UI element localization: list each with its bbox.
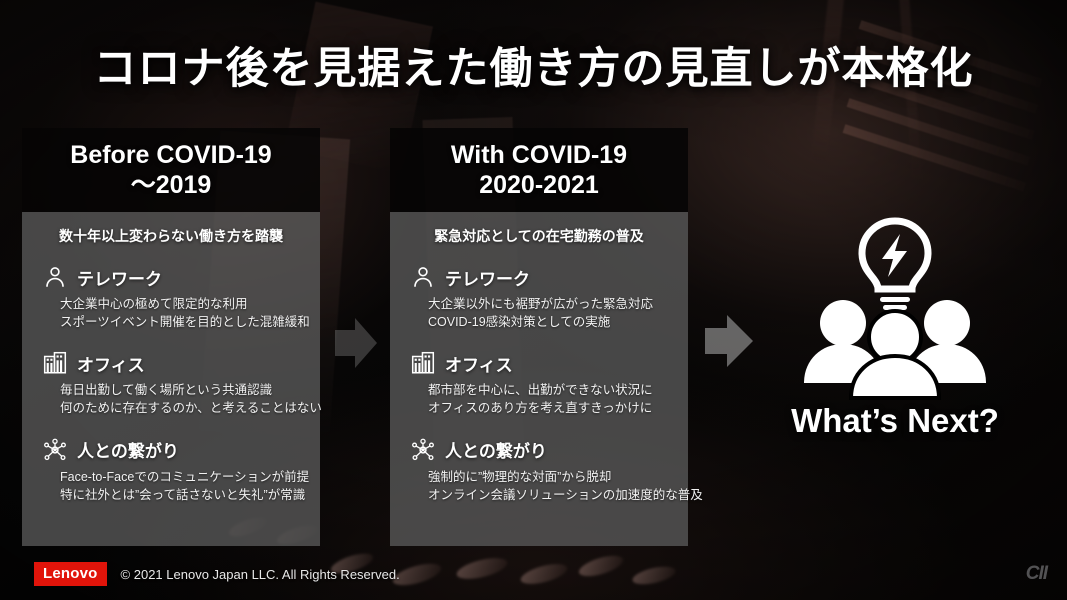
section-line: 大企業以外にも裾野が広がった緊急対応 — [406, 295, 672, 313]
section-connection: 人との繋がり Face-to-Faceでのコミュニケーションが前提 特に社外とは… — [38, 437, 304, 504]
transition-arrow-middle — [333, 316, 379, 375]
panel-body: 数十年以上変わらない働き方を踏襲 テレワーク 大企業中心の極めて限定的な利用 ス… — [22, 212, 320, 546]
section-office: オフィス 毎日出勤して働く場所という共通認識 何のために存在するのか、と考えるこ… — [38, 350, 304, 417]
section-line: 都市部を中心に、出勤ができない状況に — [406, 381, 672, 399]
panel-header: Before COVID-19 〜2019 — [22, 128, 320, 212]
section-header: 人との繋がり — [406, 437, 672, 463]
panel-with-covid: With COVID-19 2020-2021 緊急対応としての在宅勤務の普及 … — [390, 128, 688, 546]
section-line: 強制的に”物理的な対面”から脱却 — [406, 468, 672, 486]
people-icon-wrapper — [770, 212, 1020, 402]
panel-header: With COVID-19 2020-2021 — [390, 128, 688, 212]
section-header: 人との繋がり — [38, 437, 304, 463]
section-header: オフィス — [38, 350, 304, 376]
panel-subtitle: 数十年以上変わらない働き方を踏襲 — [38, 226, 304, 246]
section-title: テレワーク — [445, 265, 530, 290]
person-icon — [410, 264, 436, 290]
section-office: オフィス 都市部を中心に、出勤ができない状況に オフィスのあり方を考え直すきっか… — [406, 350, 672, 417]
copyright-text: © 2021 Lenovo Japan LLC. All Rights Rese… — [121, 567, 400, 582]
panel-heading-line2: 〜2019 — [131, 170, 212, 201]
section-telework: テレワーク 大企業以外にも裾野が広がった緊急対応 COVID-19感染対策として… — [406, 264, 672, 331]
panel-heading-line2: 2020-2021 — [479, 170, 599, 201]
network-connection-icon — [42, 437, 68, 463]
section-title: 人との繋がり — [77, 437, 179, 462]
footer: Lenovo © 2021 Lenovo Japan LLC. All Righ… — [34, 562, 400, 586]
section-line: COVID-19感染対策としての実施 — [406, 313, 672, 331]
transition-arrow-right — [703, 312, 755, 375]
presentation-slide: コロナ後を見据えた働き方の見直しが本格化 Before COVID-19 〜20… — [0, 0, 1067, 600]
outcome-group: What’s Next? — [770, 212, 1020, 440]
network-connection-icon — [410, 437, 436, 463]
section-line: 何のために存在するのか、と考えることはない — [38, 399, 304, 417]
right-arrow-icon — [703, 312, 755, 370]
right-arrow-icon — [333, 316, 379, 370]
whats-next-label: What’s Next? — [770, 402, 1020, 440]
section-title: テレワーク — [77, 265, 162, 290]
panel-before-covid: Before COVID-19 〜2019 数十年以上変わらない働き方を踏襲 テ… — [22, 128, 320, 546]
section-line: スポーツイベント開催を目的とした混雑緩和 — [38, 313, 304, 331]
section-header: オフィス — [406, 350, 672, 376]
section-title: オフィス — [445, 351, 513, 376]
corner-watermark: CII — [1026, 563, 1047, 585]
section-telework: テレワーク 大企業中心の極めて限定的な利用 スポーツイベント開催を目的とした混雑… — [38, 264, 304, 331]
section-line: 大企業中心の極めて限定的な利用 — [38, 295, 304, 313]
people-with-lightbulb-icon — [790, 215, 1000, 400]
section-title: オフィス — [77, 351, 145, 376]
section-title: 人との繋がり — [445, 437, 547, 462]
panel-heading-line1: With COVID-19 — [451, 140, 627, 171]
section-header: テレワーク — [38, 264, 304, 290]
section-line: 特に社外とは”会って話さないと失礼”が常識 — [38, 486, 304, 504]
office-building-icon — [42, 350, 68, 376]
section-line: オフィスのあり方を考え直すきっかけに — [406, 399, 672, 417]
panel-heading-line1: Before COVID-19 — [70, 140, 271, 171]
section-header: テレワーク — [406, 264, 672, 290]
person-icon — [42, 264, 68, 290]
section-connection: 人との繋がり 強制的に”物理的な対面”から脱却 オンライン会議ソリューションの加… — [406, 437, 672, 504]
panel-subtitle: 緊急対応としての在宅勤務の普及 — [406, 226, 672, 246]
panel-body: 緊急対応としての在宅勤務の普及 テレワーク 大企業以外にも裾野が広がった緊急対応… — [390, 212, 688, 546]
section-line: オンライン会議ソリューションの加速度的な普及 — [406, 486, 672, 504]
section-line: Face-to-Faceでのコミュニケーションが前提 — [38, 468, 304, 486]
section-line: 毎日出勤して働く場所という共通認識 — [38, 381, 304, 399]
office-building-icon — [410, 350, 436, 376]
lenovo-logo: Lenovo — [34, 562, 107, 586]
page-title: コロナ後を見据えた働き方の見直しが本格化 — [0, 34, 1067, 96]
